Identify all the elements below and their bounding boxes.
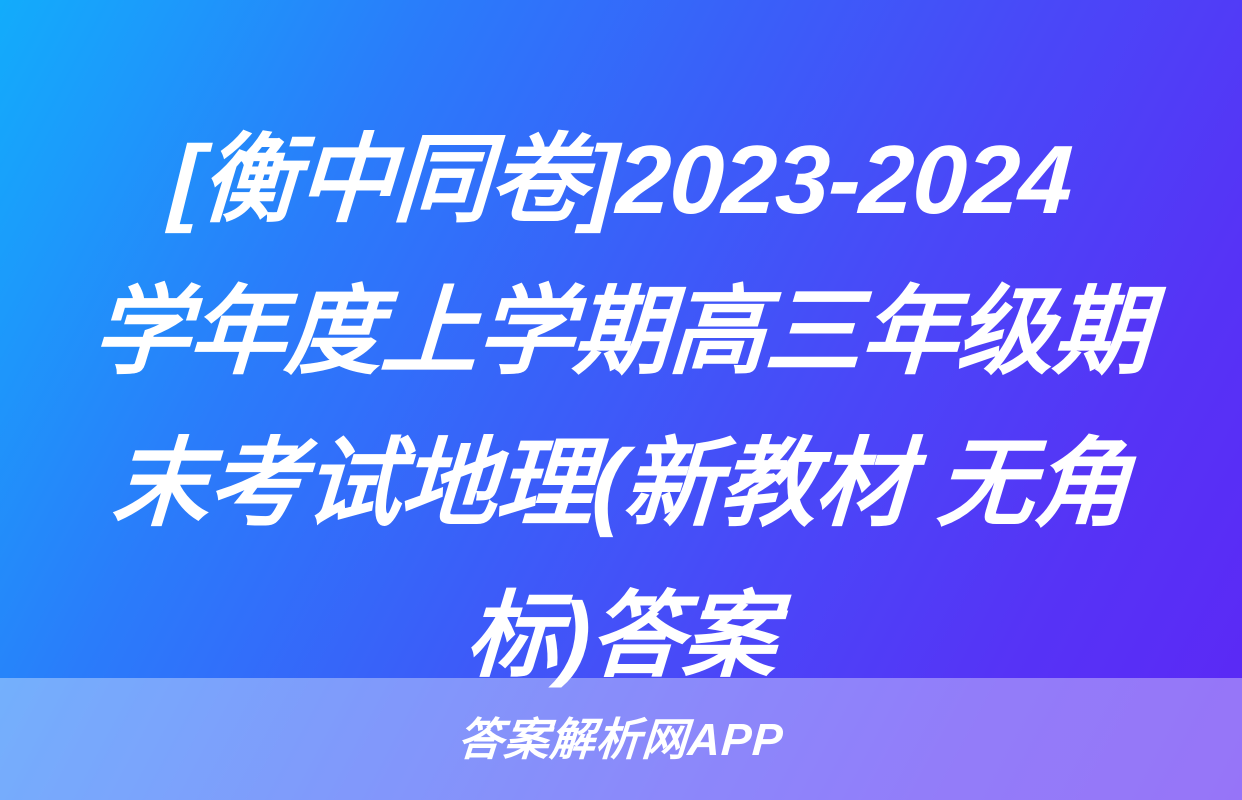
footer-banner: 答案解析网APP [0, 678, 1242, 800]
title-line-2: 学年度上学期高三年级期 [26, 256, 1216, 408]
poster-canvas: [衡中同卷]2023-2024 学年度上学期高三年级期 末考试地理(新教材 无角… [0, 0, 1242, 800]
footer-app-label: 答案解析网APP [457, 717, 786, 762]
page-title: [衡中同卷]2023-2024 学年度上学期高三年级期 末考试地理(新教材 无角… [0, 104, 1242, 712]
title-line-3: 末考试地理(新教材 无角 [26, 408, 1216, 560]
title-line-1: [衡中同卷]2023-2024 [26, 104, 1216, 256]
